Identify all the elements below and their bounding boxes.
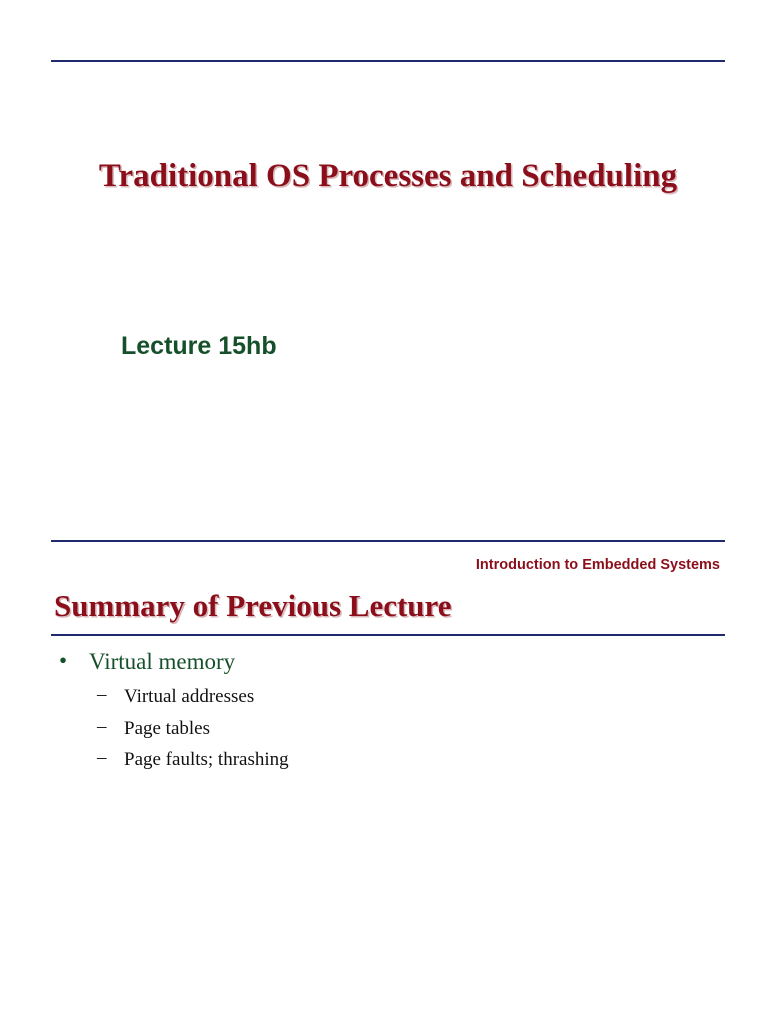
slide-summary-section: Introduction to Embedded Systems Summary… — [0, 540, 768, 1024]
bullet-dash-icon: – — [97, 746, 107, 770]
divider-top — [51, 60, 725, 62]
lecture-number: Lecture 15hb — [121, 332, 277, 361]
list-item: • Virtual memory — [51, 648, 725, 677]
list-item: – Page faults; thrashing — [51, 748, 725, 772]
list-item-label: Page tables — [124, 718, 210, 739]
bullet-list: • Virtual memory – Virtual addresses – P… — [51, 644, 725, 772]
list-item: – Page tables — [51, 717, 725, 741]
slide-heading: Summary of Previous Lecture — [54, 588, 452, 624]
list-item-label: Page faults; thrashing — [124, 749, 289, 770]
list-item-label: Virtual addresses — [124, 686, 254, 707]
bullet-dot-icon: • — [59, 647, 67, 676]
slide-page: Traditional OS Processes and Scheduling … — [0, 0, 768, 1024]
presentation-title: Traditional OS Processes and Scheduling — [51, 158, 725, 194]
divider-under-heading — [51, 634, 725, 636]
list-item: – Virtual addresses — [51, 685, 725, 709]
list-item-label: Virtual memory — [89, 649, 235, 674]
divider-slide-separator — [51, 540, 725, 542]
slide-title-section: Traditional OS Processes and Scheduling … — [0, 0, 768, 540]
bullet-dash-icon: – — [97, 715, 107, 739]
bullet-dash-icon: – — [97, 683, 107, 707]
course-header-label: Introduction to Embedded Systems — [476, 557, 720, 573]
